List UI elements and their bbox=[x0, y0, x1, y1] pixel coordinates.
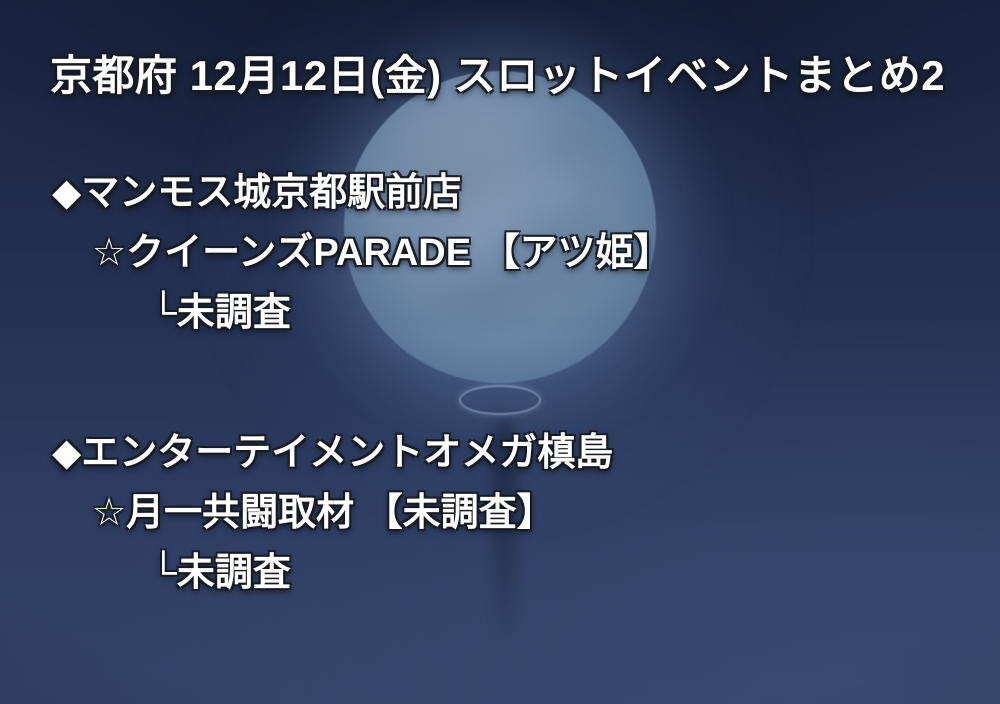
venue-event-2: ☆月一共闘取材 【未調査】 bbox=[92, 488, 1000, 538]
venue-note-2: └未調査 bbox=[150, 548, 1000, 598]
venue-name-1: ◆マンモス城京都駅前店 bbox=[52, 168, 1000, 218]
page-title: 京都府 12月12日(金) スロットイベントまとめ2 bbox=[50, 42, 945, 103]
venue-name-2: ◆エンターテイメントオメガ槙島 bbox=[52, 428, 1000, 478]
venue-block-1: ◆マンモス城京都駅前店 ☆クイーンズPARADE 【アツ姫】 └未調査 bbox=[0, 168, 1000, 338]
venue-note-1: └未調査 bbox=[150, 288, 1000, 338]
event-summary-poster: 京都府 12月12日(金) スロットイベントまとめ2 ◆マンモス城京都駅前店 ☆… bbox=[0, 0, 1000, 704]
venue-event-1: ☆クイーンズPARADE 【アツ姫】 bbox=[92, 228, 1000, 278]
poster-content: 京都府 12月12日(金) スロットイベントまとめ2 ◆マンモス城京都駅前店 ☆… bbox=[0, 0, 1000, 704]
venue-block-2: ◆エンターテイメントオメガ槙島 ☆月一共闘取材 【未調査】 └未調査 bbox=[0, 428, 1000, 598]
